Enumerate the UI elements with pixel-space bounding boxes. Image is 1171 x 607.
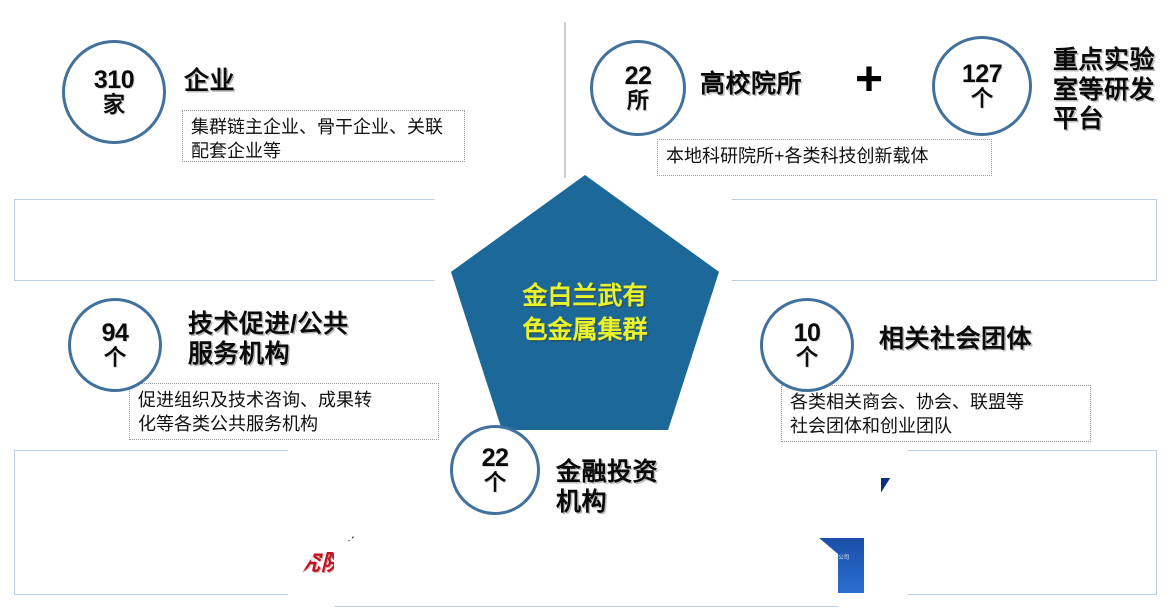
node-title-social-groups: 相关社会团体: [879, 325, 1032, 355]
count-unit-enterprises: 家: [103, 94, 125, 116]
node-desc-universities: 本地科研院所+各类科技创新载体: [657, 139, 992, 176]
count-circle-finance[interactable]: 22 个: [450, 425, 540, 515]
banner-panel-social-groups: [862, 450, 1157, 595]
plus-icon: +: [855, 56, 883, 104]
node-title-labs: 重点实验 室等研发 平台: [1053, 46, 1155, 135]
count-value-tech-service: 94: [102, 321, 129, 347]
logo-panel-finance: [334, 520, 838, 607]
count-circle-tech-service[interactable]: 94 个: [68, 298, 162, 392]
count-value-enterprises: 310: [94, 68, 134, 94]
count-unit-labs: 个: [971, 88, 993, 110]
count-unit-social-groups: 个: [796, 347, 818, 369]
node-desc-tech-service: 促进组织及技术咨询、成果转 化等各类公共服务机构: [129, 383, 439, 440]
count-circle-universities[interactable]: 22 所: [590, 40, 686, 136]
photo-panel-tech-service: [14, 450, 334, 595]
node-title-enterprises: 企业: [184, 67, 235, 97]
count-circle-social-groups[interactable]: 10 个: [760, 298, 854, 392]
node-title-finance: 金融投资 机构: [556, 458, 658, 517]
spoke-top: [564, 22, 566, 178]
center-pentagon-label: 金白兰武有 色金属集群: [522, 280, 647, 348]
count-circle-enterprises[interactable]: 310 家: [62, 40, 166, 144]
node-desc-enterprises: 集群链主企业、骨干企业、关联 配套企业等: [182, 110, 465, 162]
node-title-tech-service: 技术促进/公共 服务机构: [188, 310, 348, 369]
center-pentagon: 金白兰武有 色金属集群: [451, 175, 719, 430]
count-unit-tech-service: 个: [104, 347, 126, 369]
count-value-finance: 22: [482, 446, 509, 472]
count-unit-finance: 个: [484, 472, 506, 494]
diagram-canvas: 金白兰武有 色金属集群 310 家 企业 集群链主企业、骨干企业、关联 配套企业…: [0, 0, 1171, 607]
count-value-labs: 127: [962, 62, 1002, 88]
count-value-universities: 22: [625, 64, 652, 90]
logo-panel-enterprises: [14, 199, 480, 281]
count-unit-universities: 所: [627, 90, 649, 112]
node-title-universities: 高校院所: [700, 70, 802, 100]
count-value-social-groups: 10: [794, 321, 821, 347]
logo-panel-universities: [686, 199, 1157, 281]
node-desc-social-groups: 各类相关商会、协会、联盟等 社会团体和创业团队: [781, 385, 1091, 442]
count-circle-labs[interactable]: 127 个: [932, 36, 1032, 136]
